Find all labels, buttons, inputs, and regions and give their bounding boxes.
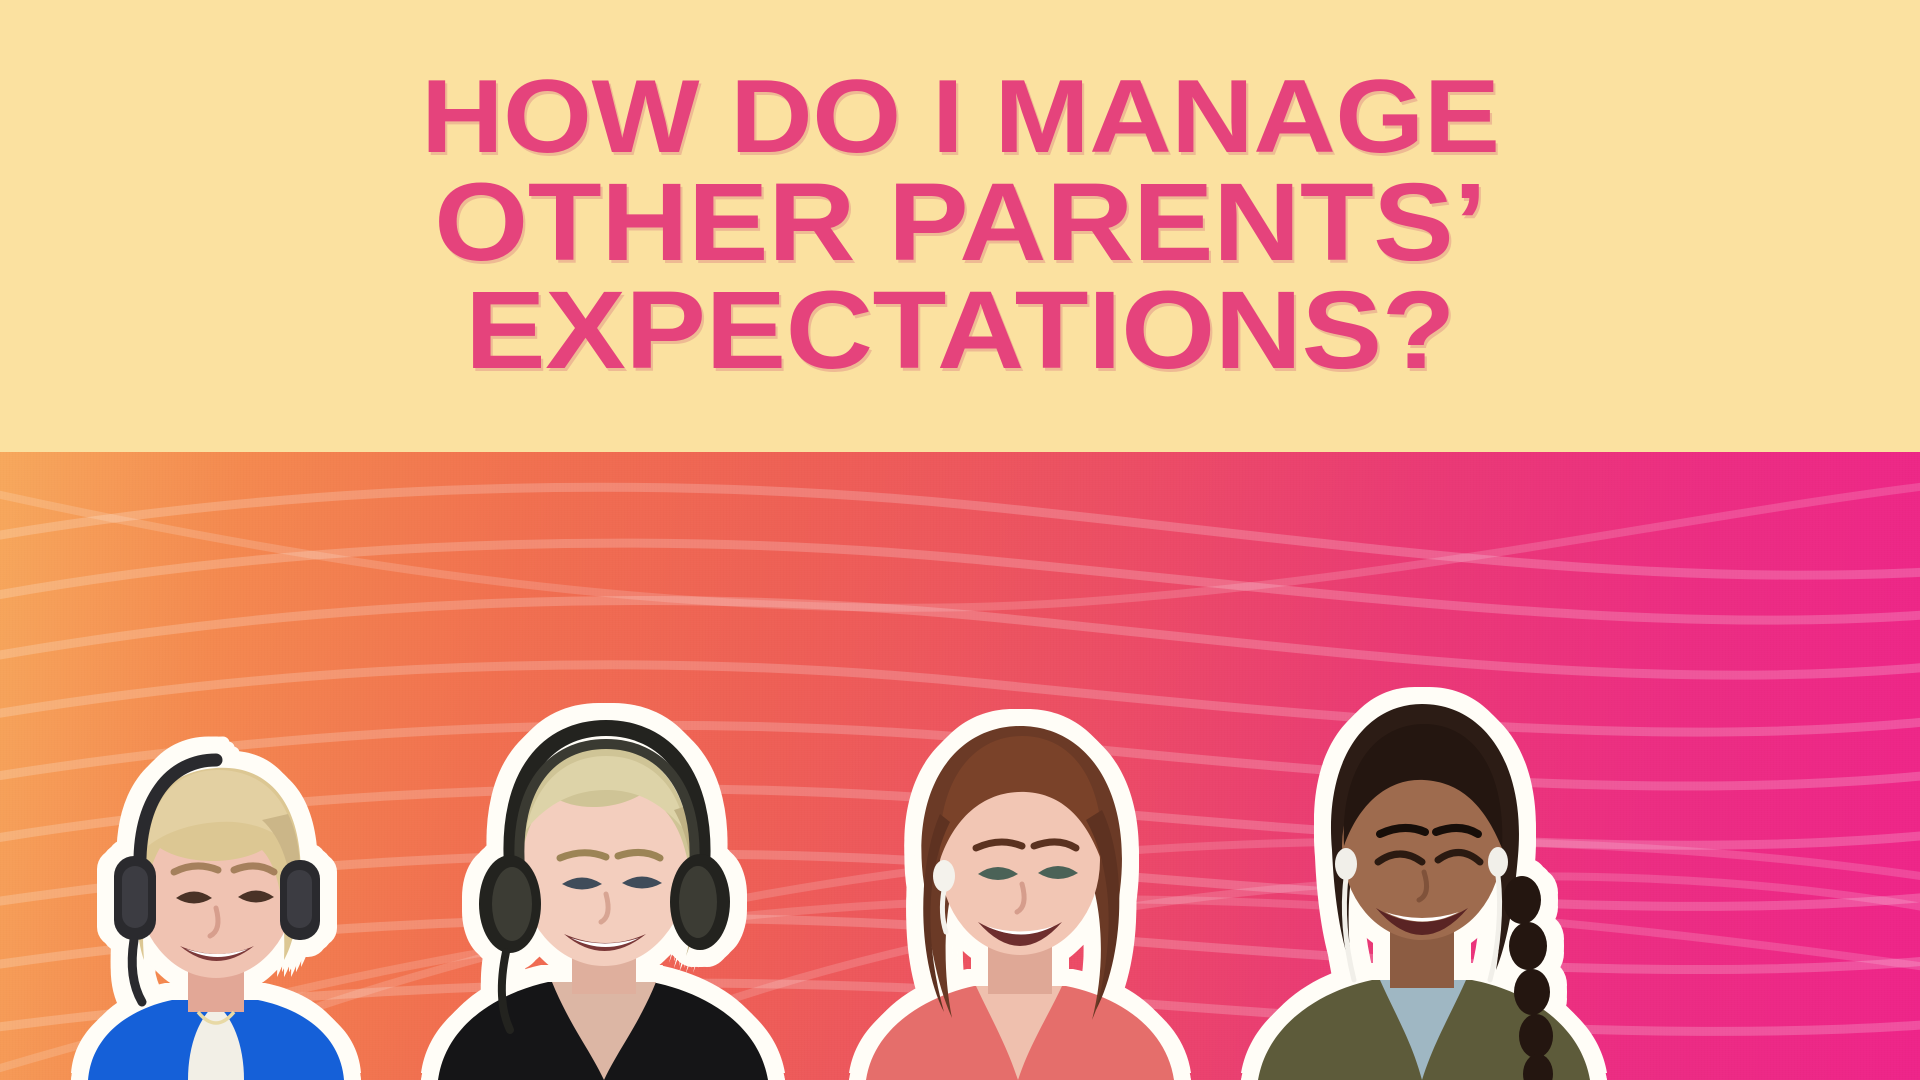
thumbnail-canvas: HOW DO I MANAGE OTHER PARENTS’ EXPECTATI…: [0, 0, 1920, 1080]
participant-3: [840, 670, 1190, 1080]
participants-photo-panel: [0, 452, 1920, 1080]
participant-3-cutout: [840, 670, 1190, 1080]
title-banner: HOW DO I MANAGE OTHER PARENTS’ EXPECTATI…: [0, 0, 1920, 452]
participant-1: [48, 660, 378, 1080]
participant-4: [1240, 650, 1600, 1080]
participant-1-cutout: [48, 660, 378, 1080]
participant-4-cutout: [1240, 650, 1600, 1080]
title-line-3: EXPECTATIONS?: [465, 280, 1455, 382]
title-line-1: HOW DO I MANAGE: [421, 69, 1499, 166]
title-line-2: OTHER PARENTS’: [434, 172, 1486, 274]
participant-2-cutout: [420, 690, 790, 1080]
participant-2: [420, 690, 790, 1080]
